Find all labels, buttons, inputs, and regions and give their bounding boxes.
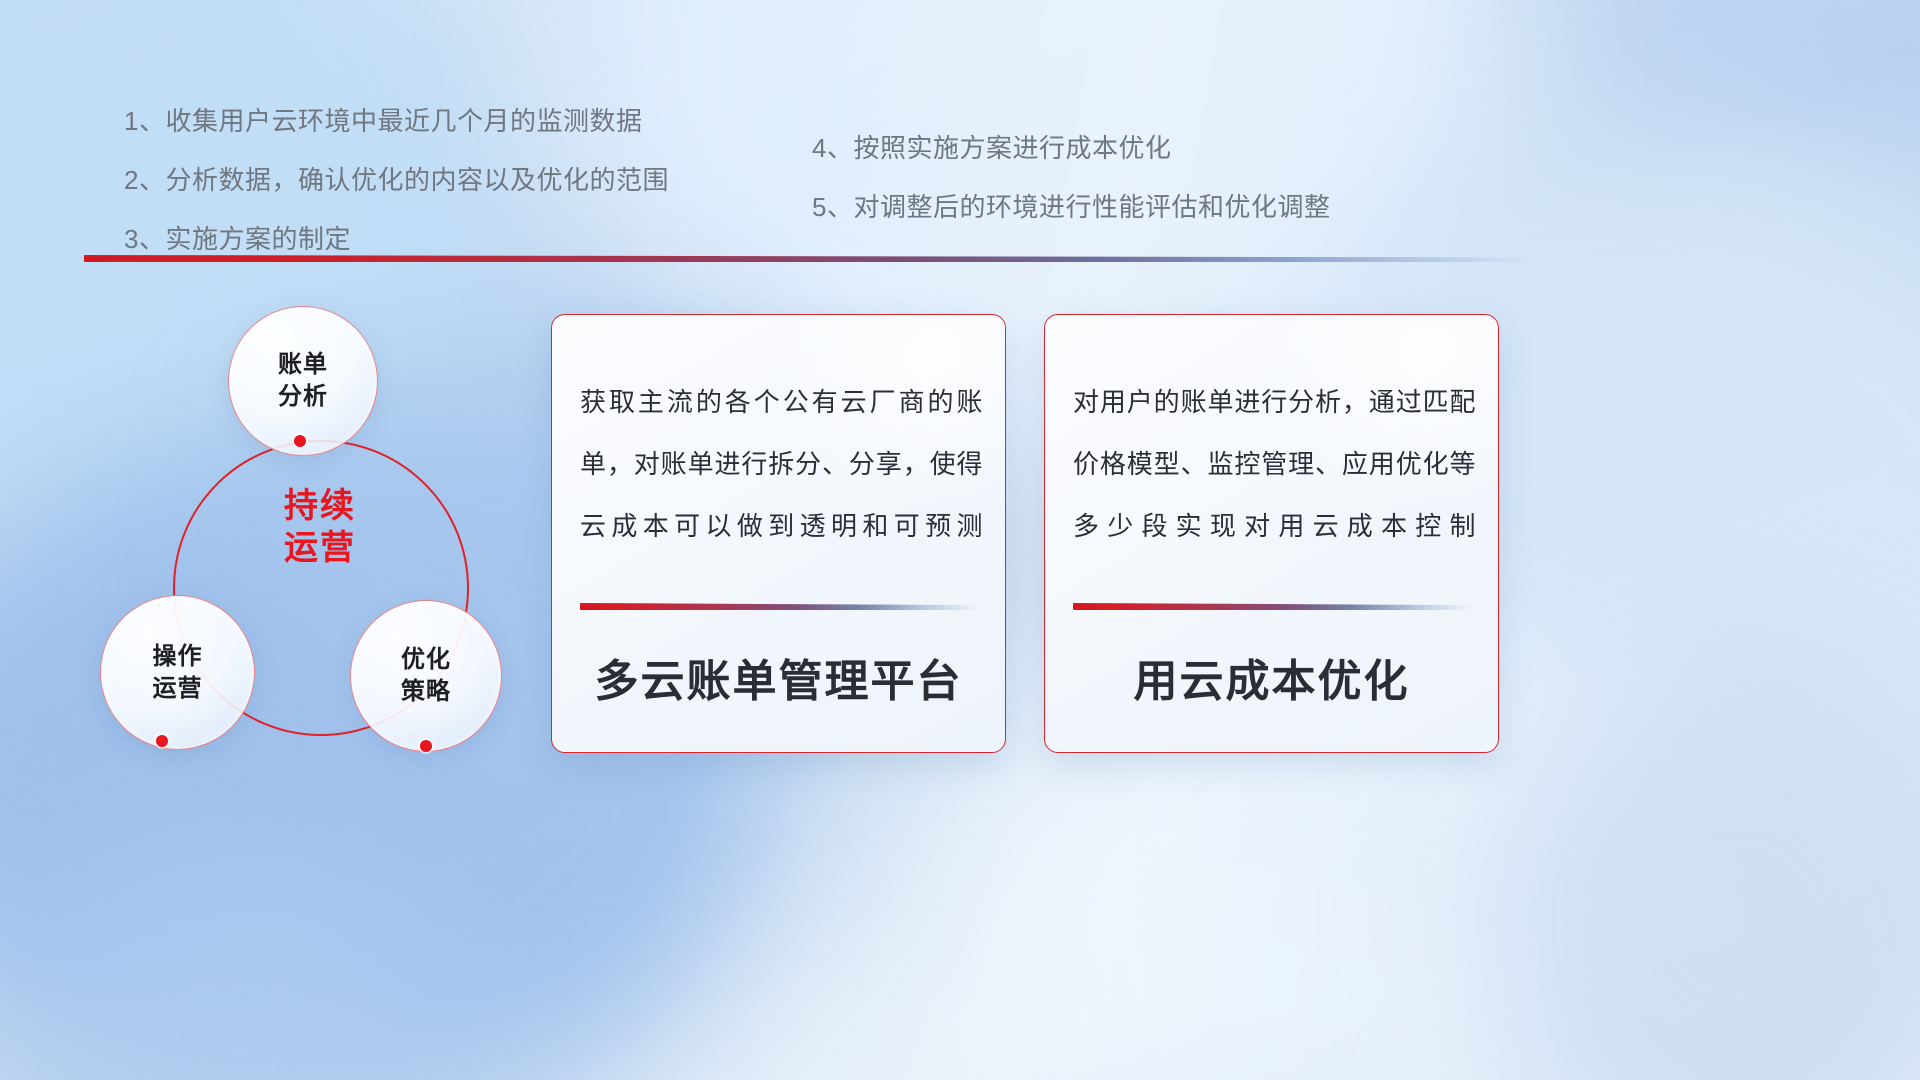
diagram-bubble-bill-analysis[interactable]: 账单 分析 bbox=[228, 306, 378, 456]
bubble-label-line1: 优化 bbox=[401, 644, 451, 676]
process-step: 3、实施方案的制定 bbox=[124, 217, 669, 261]
process-step: 4、按照实施方案进行成本优化 bbox=[812, 126, 1330, 170]
card-accent-rule bbox=[1073, 603, 1472, 610]
diagram-center-line2: 运营 bbox=[230, 527, 410, 569]
process-step: 5、对调整后的环境进行性能评估和优化调整 bbox=[812, 185, 1330, 229]
diagram-center-label: 持续 运营 bbox=[230, 485, 410, 569]
diagram-node-dot bbox=[156, 735, 168, 747]
feature-card-cost-optimization[interactable]: 对用户的账单进行分析，通过匹配价格模型、监控管理、应用优化等多少段实现对用云成本… bbox=[1044, 314, 1499, 753]
process-steps-right: 4、按照实施方案进行成本优化 5、对调整后的环境进行性能评估和优化调整 bbox=[812, 126, 1330, 244]
diagram-bubble-optimization-strategy[interactable]: 优化 策略 bbox=[350, 600, 502, 752]
card-description: 对用户的账单进行分析，通过匹配价格模型、监控管理、应用优化等多少段实现对用云成本… bbox=[1073, 371, 1476, 557]
process-steps-left: 1、收集用户云环境中最近几个月的监测数据 2、分析数据，确认优化的内容以及优化的… bbox=[124, 99, 669, 276]
diagram-bubble-operations[interactable]: 操作 运营 bbox=[100, 595, 255, 750]
bubble-label-line1: 账单 bbox=[278, 349, 328, 381]
diagram-center-line1: 持续 bbox=[230, 485, 410, 527]
card-title: 多云账单管理平台 bbox=[552, 645, 1005, 709]
bubble-label-line2: 策略 bbox=[401, 676, 451, 708]
diagram-node-dot bbox=[420, 740, 432, 752]
bubble-label-line2: 运营 bbox=[153, 673, 203, 705]
process-step: 1、收集用户云环境中最近几个月的监测数据 bbox=[124, 99, 669, 143]
diagram-node-dot bbox=[294, 435, 306, 447]
card-title: 用云成本优化 bbox=[1045, 645, 1498, 709]
feature-card-multicloud-billing[interactable]: 获取主流的各个公有云厂商的账单，对账单进行拆分、分享，使得云成本可以做到透明和可… bbox=[551, 314, 1006, 753]
continuous-operation-diagram: 持续 运营 账单 分析 操作 运营 优化 策略 bbox=[80, 290, 550, 770]
bubble-label-line2: 分析 bbox=[278, 381, 328, 413]
bubble-label-line1: 操作 bbox=[153, 641, 203, 673]
process-step: 2、分析数据，确认优化的内容以及优化的范围 bbox=[124, 158, 669, 202]
card-description: 获取主流的各个公有云厂商的账单，对账单进行拆分、分享，使得云成本可以做到透明和可… bbox=[580, 371, 983, 557]
card-accent-rule bbox=[580, 603, 979, 610]
